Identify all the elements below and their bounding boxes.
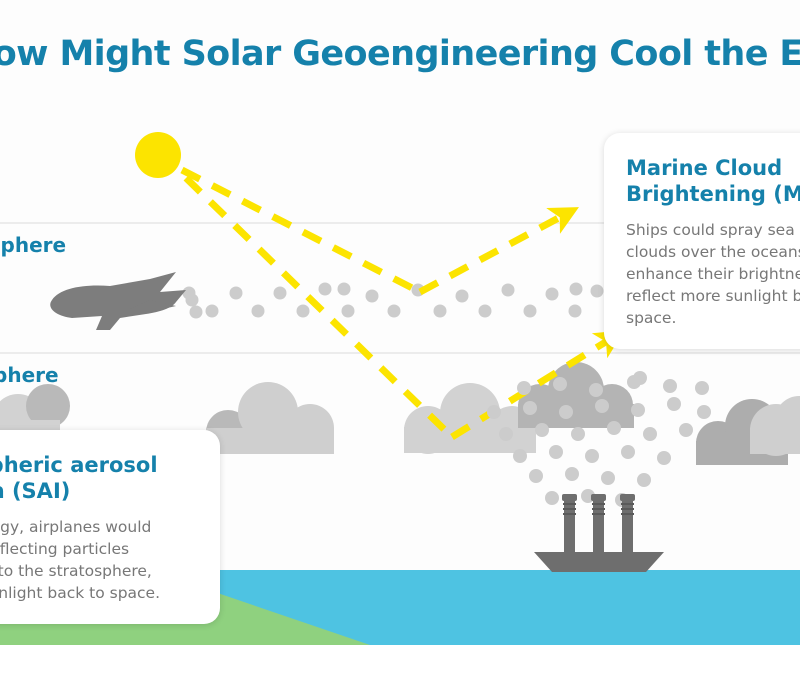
aerosol-particle-icon bbox=[186, 294, 199, 307]
card-body-sai: In this strategy, airplanes would spray … bbox=[0, 516, 198, 604]
sunlight-ray-sai-reflected bbox=[420, 214, 566, 292]
cloud-icon bbox=[206, 382, 334, 454]
callout-card-stratospheric-aerosol-injection[interactable]: Stratospheric aerosol injection (SAI) In… bbox=[0, 430, 220, 624]
callout-card-marine-cloud-brightening[interactable]: Marine Cloud Brightening (MCB) Ships cou… bbox=[604, 133, 800, 349]
card-heading-sai: Stratospheric aerosol injection (SAI) bbox=[0, 452, 198, 504]
card-heading-mcb: Marine Cloud Brightening (MCB) bbox=[626, 155, 800, 207]
card-body-mcb: Ships could spray sea salt into clouds o… bbox=[626, 219, 800, 329]
airplane-icon bbox=[50, 272, 186, 330]
sunlight-ray-mcb-incoming bbox=[186, 178, 452, 437]
spray-ship-icon bbox=[534, 494, 664, 572]
aerosol-particle-layer bbox=[183, 283, 604, 319]
cloud-icon-group-right bbox=[696, 396, 800, 465]
cloud-icon bbox=[518, 362, 634, 428]
infographic-canvas: How Might Solar Geoengineering Cool the … bbox=[0, 0, 800, 689]
sunlight-ray-sai-incoming bbox=[182, 170, 420, 292]
